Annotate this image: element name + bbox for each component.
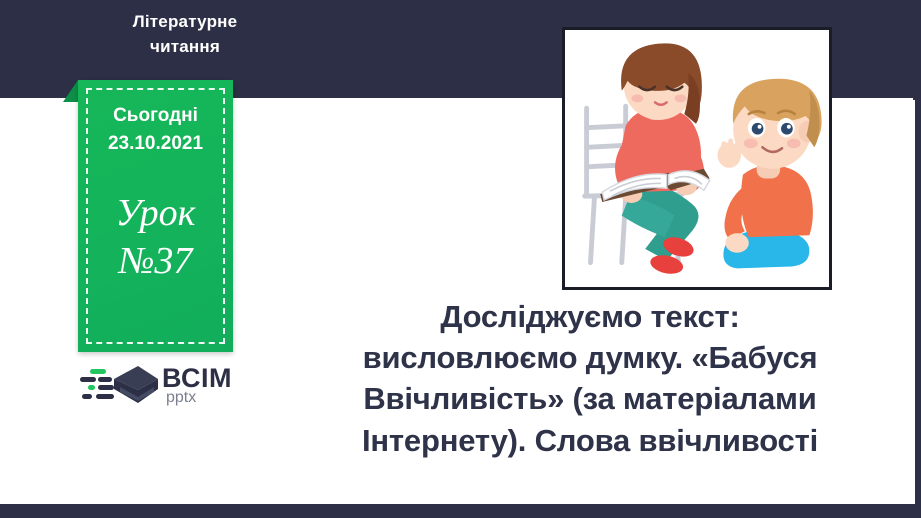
slide-title-line-3: Ввічливість» (за матеріалами [290, 378, 890, 419]
today-label: Сьогодні [78, 102, 233, 130]
illustration-frame [562, 27, 832, 290]
logo-suffix: pptx [166, 390, 196, 406]
subject-line-2: читання [60, 35, 310, 60]
girl-reading-to-boy-illustration [565, 30, 829, 287]
slide-title-line-4: Інтернету). Слова ввічливості [290, 420, 890, 461]
lesson-word: Урок [78, 190, 233, 238]
card-fold-corner [63, 80, 78, 102]
lesson-date: 23.10.2021 [78, 130, 233, 158]
card-date-block: Сьогодні 23.10.2021 [78, 102, 233, 157]
logo-name: ВСІМ [162, 365, 232, 392]
vsim-pptx-logo: ВСІМ pptx [80, 363, 240, 411]
card-lesson-block: Урок №37 [78, 190, 233, 285]
graduation-cap-icon [80, 363, 158, 409]
slide-title-line-1: Досліджуємо текст: [290, 296, 890, 337]
subject-line-1: Літературне [60, 10, 310, 35]
lesson-card: Сьогодні 23.10.2021 Урок №37 [78, 80, 233, 352]
lesson-number: №37 [78, 238, 233, 286]
slide-title: Досліджуємо текст: висловлюємо думку. «Б… [290, 296, 890, 461]
subject-title: Літературне читання [60, 10, 310, 59]
presentation-slide: Літературне читання Сьогодні 23.10.2021 … [0, 0, 921, 518]
right-dark-edge [915, 0, 921, 518]
slide-title-line-2: висловлюємо думку. «Бабуся [290, 337, 890, 378]
bottom-dark-band [0, 504, 921, 518]
